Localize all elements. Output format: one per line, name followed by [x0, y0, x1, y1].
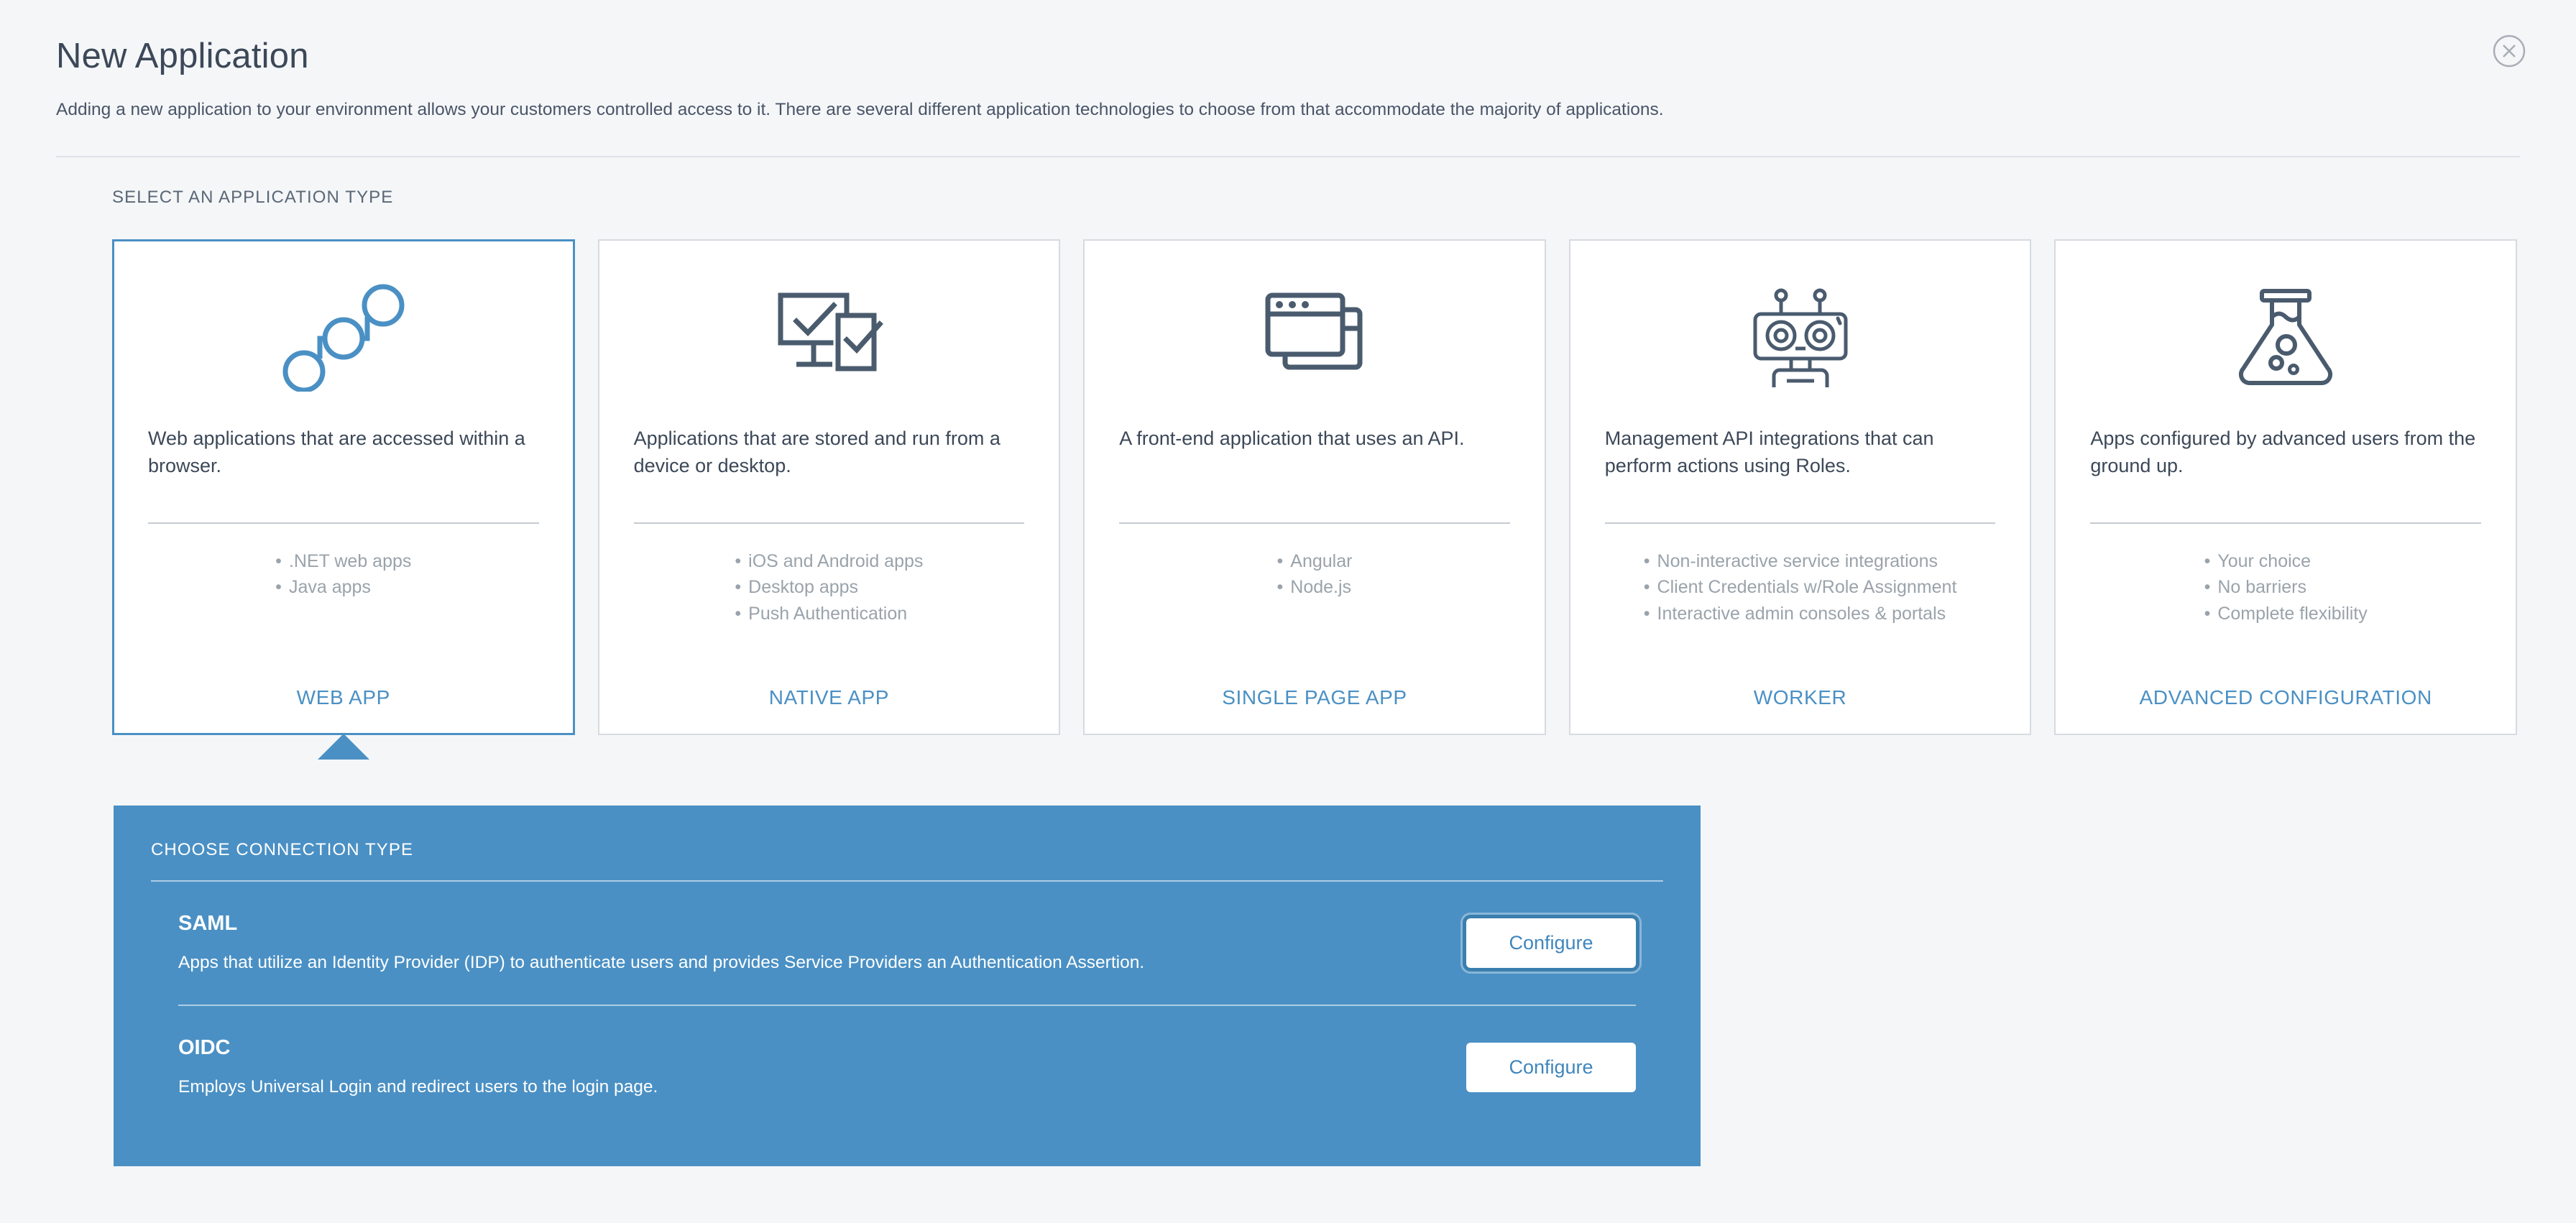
- card-feature-list: Your choice No barriers Complete flexibi…: [2204, 548, 2368, 627]
- node-graph-icon: [148, 262, 539, 413]
- card-type-label[interactable]: NATIVE APP: [634, 665, 1025, 709]
- list-item: Client Credentials w/Role Assignment: [1644, 574, 1957, 601]
- list-item: Desktop apps: [735, 574, 923, 601]
- card-divider: [634, 522, 1025, 524]
- list-item: No barriers: [2204, 574, 2368, 601]
- header-divider: [56, 156, 2520, 157]
- list-item: Interactive admin consoles & portals: [1644, 601, 1957, 627]
- list-item: iOS and Android apps: [735, 548, 923, 575]
- choose-connection-type-label: CHOOSE CONNECTION TYPE: [151, 840, 1663, 860]
- connection-description: Employs Universal Login and redirect use…: [178, 1076, 1437, 1099]
- card-description: Management API integrations that can per…: [1605, 425, 1996, 509]
- desktop-and-device-check-icon: [634, 262, 1025, 413]
- card-type-label[interactable]: WORKER: [1605, 665, 1996, 709]
- dialog-header: New Application Adding a new application…: [0, 0, 2576, 157]
- card-type-label[interactable]: ADVANCED CONFIGURATION: [2090, 665, 2481, 709]
- close-circle-icon[interactable]: [2491, 33, 2527, 69]
- application-type-card-grid: Web applications that are accessed withi…: [112, 239, 2517, 735]
- card-divider: [1605, 522, 1996, 524]
- card-feature-list: iOS and Android apps Desktop apps Push A…: [735, 548, 923, 627]
- list-item: Non-interactive service integrations: [1644, 548, 1957, 575]
- app-type-card-single-page-app[interactable]: A front-end application that uses an API…: [1083, 239, 1546, 735]
- connection-row-oidc[interactable]: OIDC Employs Universal Login and redirec…: [151, 1006, 1663, 1129]
- app-type-card-advanced-configuration[interactable]: Apps configured by advanced users from t…: [2054, 239, 2517, 735]
- list-item: Complete flexibility: [2204, 601, 2368, 627]
- connection-name: SAML: [178, 912, 1437, 936]
- configure-oidc-button[interactable]: Configure: [1466, 1043, 1636, 1092]
- card-description: Apps configured by advanced users from t…: [2090, 425, 2481, 509]
- select-application-type-label: SELECT AN APPLICATION TYPE: [112, 188, 2576, 208]
- connection-row-text: SAML Apps that utilize an Identity Provi…: [178, 912, 1466, 974]
- card-description: Web applications that are accessed withi…: [148, 425, 539, 509]
- card-type-label[interactable]: SINGLE PAGE APP: [1119, 665, 1510, 709]
- card-type-label[interactable]: WEB APP: [148, 665, 539, 709]
- app-type-card-native-app[interactable]: Applications that are stored and run fro…: [598, 239, 1061, 735]
- card-divider: [1119, 522, 1510, 524]
- connection-row-text: OIDC Employs Universal Login and redirec…: [178, 1036, 1466, 1099]
- list-item: Angular: [1277, 548, 1353, 575]
- card-feature-list: Non-interactive service integrations Cli…: [1644, 548, 1957, 627]
- connection-name: OIDC: [178, 1036, 1437, 1060]
- connection-description: Apps that utilize an Identity Provider (…: [178, 951, 1437, 974]
- card-feature-list: .NET web apps Java apps: [275, 548, 411, 601]
- card-feature-list: Angular Node.js: [1277, 548, 1353, 601]
- app-type-card-web-app[interactable]: Web applications that are accessed withi…: [112, 239, 575, 735]
- browser-windows-icon: [1119, 262, 1510, 413]
- card-description: Applications that are stored and run fro…: [634, 425, 1025, 509]
- selected-card-pointer: [318, 734, 369, 760]
- card-description: A front-end application that uses an API…: [1119, 425, 1510, 509]
- connection-row-saml[interactable]: SAML Apps that utilize an Identity Provi…: [151, 882, 1663, 1005]
- card-divider: [148, 522, 539, 524]
- list-item: Node.js: [1277, 574, 1353, 601]
- robot-icon: [1605, 262, 1996, 413]
- app-type-card-worker[interactable]: Management API integrations that can per…: [1569, 239, 2032, 735]
- flask-icon: [2090, 262, 2481, 413]
- choose-connection-type-panel: CHOOSE CONNECTION TYPE SAML Apps that ut…: [114, 806, 1701, 1166]
- list-item: Your choice: [2204, 548, 2368, 575]
- list-item: .NET web apps: [275, 548, 411, 575]
- list-item: Java apps: [275, 574, 411, 601]
- card-divider: [2090, 522, 2481, 524]
- page-description: Adding a new application to your environ…: [56, 98, 2520, 121]
- list-item: Push Authentication: [735, 601, 923, 627]
- page-title: New Application: [56, 37, 2520, 76]
- configure-saml-button[interactable]: Configure: [1466, 918, 1636, 968]
